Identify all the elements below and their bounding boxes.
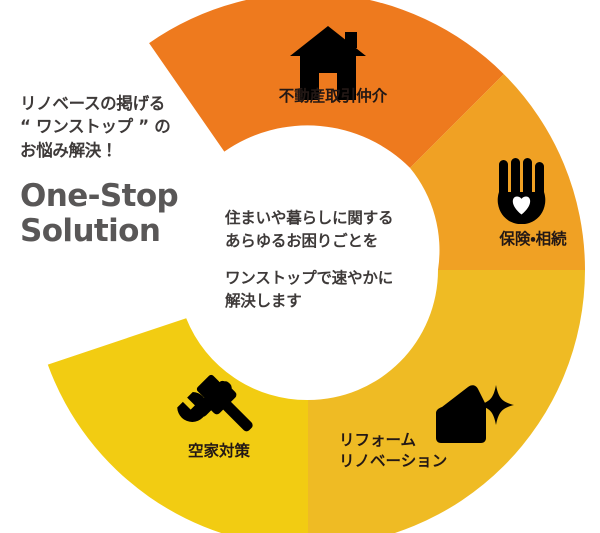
segment-label-insurance: 保険・相続 [472, 229, 594, 250]
segment-label-real-estate: 不動産取引仲介 [248, 86, 418, 107]
lede-text: リノベースの掲げる “ ワンストップ ” の お悩み解決！ [20, 92, 230, 162]
center-text-line-2: ワンストップで速やかに 解決します [225, 267, 455, 314]
infographic-canvas: リノベースの掲げる “ ワンストップ ” の お悩み解決！ One-Stop S… [0, 0, 600, 533]
center-copy-block: 住まいや暮らしに関する あらゆるお困りごとを ワンストップで速やかに 解決します [225, 207, 455, 313]
center-text-line-1: 住まいや暮らしに関する あらゆるお困りごとを [225, 207, 455, 254]
segment-label-reform: リフォーム リノベーション [339, 430, 499, 472]
left-copy-block: リノベースの掲げる “ ワンストップ ” の お悩み解決！ One-Stop S… [20, 92, 230, 249]
page-title: One-Stop Solution [20, 179, 230, 248]
segment-label-vacant-house: 空家対策 [164, 441, 274, 462]
donut-segment-vacant-house[interactable] [48, 318, 308, 533]
